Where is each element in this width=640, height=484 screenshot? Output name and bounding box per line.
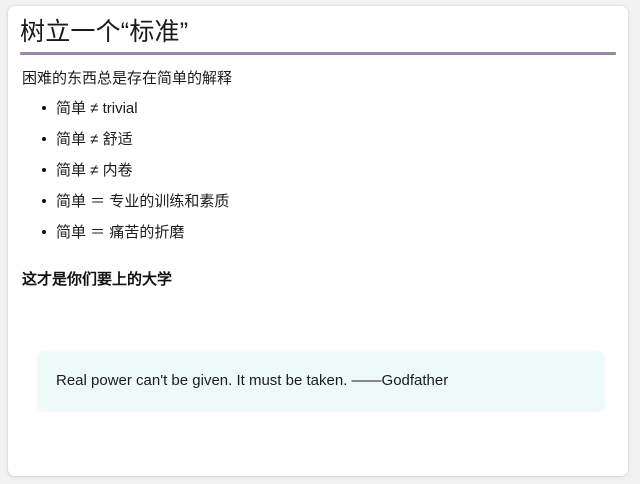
list-item: 简单 ≠ 舒适 [42,124,616,155]
quote-callout: Real power can't be given. It must be ta… [38,351,604,410]
lead-line: 困难的东西总是存在简单的解释 [22,68,616,90]
bullet-list: 简单 ≠ trivial 简单 ≠ 舒适 简单 ≠ 内卷 简单 ＝ 专业的训练和… [20,93,616,248]
list-item: 简单 ≠ trivial [42,93,616,124]
list-item: 简单 ＝ 痛苦的折磨 [42,217,616,248]
list-item: 简单 ≠ 内卷 [42,155,616,186]
page-title: 树立一个“标准” [20,15,616,49]
list-item-label: 简单 ≠ trivial [56,100,138,117]
quote-text: Real power can't be given. It must be ta… [38,370,464,392]
list-item-label: 简单 ＝ 痛苦的折磨 [56,224,184,241]
body-block: 困难的东西总是存在简单的解释 简单 ≠ trivial 简单 ≠ 舒适 简单 ≠… [20,55,616,291]
emphasis-line: 这才是你们要上的大学 [22,269,616,291]
list-item-label: 简单 ＝ 专业的训练和素质 [56,193,229,210]
list-item-label: 简单 ≠ 内卷 [56,162,133,179]
list-item: 简单 ＝ 专业的训练和素质 [42,186,616,217]
title-block: 树立一个“标准” [20,6,616,55]
slide-card: 树立一个“标准” 困难的东西总是存在简单的解释 简单 ≠ trivial 简单 … [8,6,628,476]
list-item-label: 简单 ≠ 舒适 [56,131,133,148]
